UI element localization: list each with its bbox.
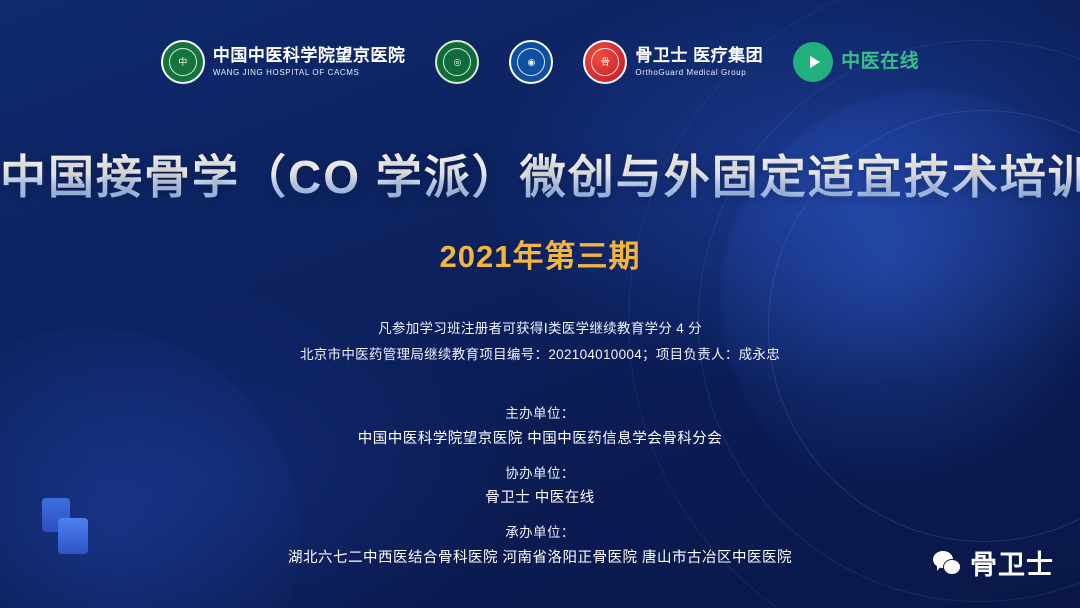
- organizations-block: 主办单位： 中国中医科学院望京医院 中国中医药信息学会骨科分会 协办单位： 骨卫…: [0, 402, 1080, 581]
- logo-blue-society: ◉: [509, 40, 553, 84]
- organizer-undertaker-names: 湖北六七二中西医结合骨科医院 河南省洛阳正骨医院 唐山市古冶区中医医院: [0, 545, 1080, 571]
- page-title: 中国接骨学（CO 学派）微创与外固定适宜技术培训班: [0, 152, 1080, 203]
- organizer-undertaker-label: 承办单位：: [0, 521, 1080, 545]
- logo-bar: 中 中国中医科学院望京医院 WANG JING HOSPITAL OF CACM…: [0, 30, 1080, 94]
- organizer-host-names: 中国中医科学院望京医院 中国中医药信息学会骨科分会: [0, 426, 1080, 452]
- organizer-coorganizer-label: 协办单位：: [0, 462, 1080, 486]
- logo-orthoguard: 骨 骨卫士 医疗集团 OrthoGuard Medical Group: [583, 40, 763, 84]
- logo-green-society: ◎: [435, 40, 479, 84]
- organizer-undertaker: 承办单位： 湖北六七二中西医结合骨科医院 河南省洛阳正骨医院 唐山市古冶区中医医…: [0, 521, 1080, 571]
- organizer-coorganizer-names: 骨卫士 中医在线: [0, 485, 1080, 511]
- logo-orthoguard-name-cn: 骨卫士 医疗集团: [635, 46, 763, 66]
- credits-block: 凡参加学习班注册者可获得Ⅰ类医学继续教育学分 4 分 北京市中医药管理局继续教育…: [0, 316, 1080, 367]
- blue-circle-emblem-icon: ◉: [509, 40, 553, 84]
- organizer-host-label: 主办单位：: [0, 402, 1080, 426]
- green-circle-emblem-icon: ◎: [435, 40, 479, 84]
- poster-canvas: 中 中国中医科学院望京医院 WANG JING HOSPITAL OF CACM…: [0, 0, 1080, 608]
- logo-tcm-online: 中医在线: [793, 42, 919, 82]
- wechat-account-name: 骨卫士: [970, 543, 1054, 582]
- title-block: 中国接骨学（CO 学派）微创与外固定适宜技术培训班 2021年第三期: [0, 152, 1080, 276]
- logo-wangjing-name-en: WANG JING HOSPITAL OF CACMS: [213, 68, 406, 78]
- orthoguard-emblem-icon: 骨: [583, 40, 627, 84]
- hospital-emblem-icon: 中: [161, 40, 205, 84]
- logo-orthoguard-name-en: OrthoGuard Medical Group: [635, 68, 763, 78]
- logo-tcm-online-name-cn: 中医在线: [841, 51, 919, 73]
- organizer-coorganizer: 协办单位： 骨卫士 中医在线: [0, 462, 1080, 512]
- logo-wangjing-name-cn: 中国中医科学院望京医院: [213, 46, 406, 66]
- wechat-account: 骨卫士: [933, 543, 1054, 582]
- play-button-icon: [793, 42, 833, 82]
- page-subtitle: 2021年第三期: [0, 231, 1080, 276]
- decorative-cube-icon: [42, 498, 98, 560]
- wechat-icon: [933, 551, 961, 575]
- credit-line-2: 北京市中医药管理局继续教育项目编号：202104010004；项目负责人：成永忠: [0, 342, 1080, 368]
- organizer-host: 主办单位： 中国中医科学院望京医院 中国中医药信息学会骨科分会: [0, 402, 1080, 452]
- credit-line-1: 凡参加学习班注册者可获得Ⅰ类医学继续教育学分 4 分: [0, 316, 1080, 342]
- logo-wangjing-hospital: 中 中国中医科学院望京医院 WANG JING HOSPITAL OF CACM…: [161, 40, 406, 84]
